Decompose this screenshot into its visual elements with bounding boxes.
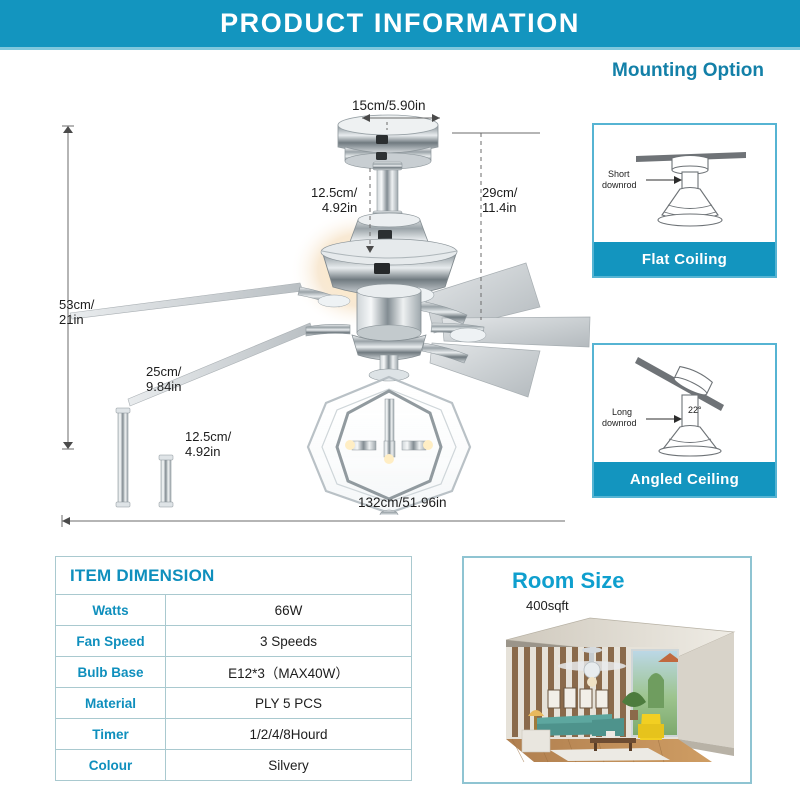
angled-angle-label: 22° <box>688 405 702 415</box>
flat-ceiling-illustration: Short downrod <box>594 125 775 242</box>
mounting-option-flat-ceiling[interactable]: Short downrod Flat Coiling <box>592 123 777 278</box>
dimension-canopy-width: 15cm/5.90in <box>352 98 426 113</box>
row-key-watts: Watts <box>56 595 166 626</box>
row-value-watts: 66W <box>166 595 412 626</box>
angled-ceiling-illustration: 22° Long downrod <box>594 345 775 462</box>
angled-annotation-line2: downrod <box>602 418 637 428</box>
flat-annotation-line1: Short <box>608 169 630 179</box>
row-value-material: PLY 5 PCS <box>166 688 412 719</box>
flat-ceiling-label: Flat Coiling <box>594 242 775 276</box>
table-row: Bulb Base E12*3（MAX40W） <box>56 657 412 688</box>
row-key-colour: Colour <box>56 750 166 781</box>
item-dimension-table: ITEM DIMENSION Watts 66W Fan Speed 3 Spe… <box>55 556 412 781</box>
angled-ceiling-label: Angled Ceiling <box>594 462 775 496</box>
dimension-blade-drop: 53cm/ 21in <box>59 297 94 327</box>
room-size-title: Room Size <box>512 568 624 594</box>
mounting-option-angled-ceiling[interactable]: 22° Long downrod Angled Ceiling <box>592 343 777 498</box>
table-row: Timer 1/2/4/8Hourd <box>56 719 412 750</box>
table-row: Watts 66W <box>56 595 412 626</box>
table-title-row: ITEM DIMENSION <box>56 557 412 595</box>
dimension-blade-span: 132cm/51.96in <box>358 495 447 510</box>
row-value-colour: Silvery <box>166 750 412 781</box>
dimension-rod-short: 12.5cm/ 4.92in <box>185 429 231 459</box>
row-value-timer: 1/2/4/8Hourd <box>166 719 412 750</box>
dimension-rod-long: 25cm/ 9.84in <box>146 364 181 394</box>
flat-annotation-line2: downrod <box>602 180 637 190</box>
table-row: Material PLY 5 PCS <box>56 688 412 719</box>
dimension-total-height: 29cm/ 11.4in <box>482 185 517 215</box>
table-row: Colour Silvery <box>56 750 412 781</box>
row-value-fan-speed: 3 Speeds <box>166 626 412 657</box>
row-value-bulb-base: E12*3（MAX40W） <box>166 657 412 688</box>
dimension-downrod-drop: 12.5cm/ 4.92in <box>311 185 357 215</box>
table-row: Fan Speed 3 Speeds <box>56 626 412 657</box>
row-key-bulb-base: Bulb Base <box>56 657 166 688</box>
row-key-fan-speed: Fan Speed <box>56 626 166 657</box>
item-dimension-title: ITEM DIMENSION <box>56 557 412 595</box>
row-key-material: Material <box>56 688 166 719</box>
room-size-panel: Room Size 400sqft <box>462 556 752 784</box>
angled-annotation-line1: Long <box>612 407 632 417</box>
room-illustration <box>472 610 744 776</box>
row-key-timer: Timer <box>56 719 166 750</box>
product-information-infographic: PRODUCT INFORMATION Mounting Option <box>0 0 800 800</box>
